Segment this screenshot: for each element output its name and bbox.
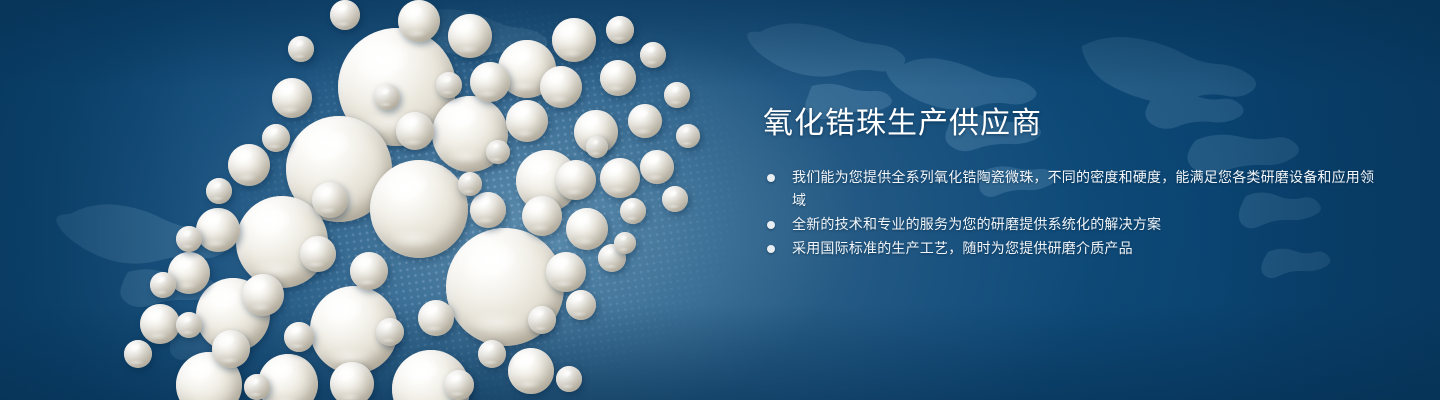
list-item: 我们能为您提供全系列氧化锆陶瓷微珠，不同的密度和硬度，能满足您各类研磨设备和应用… (763, 166, 1383, 212)
list-item-label: 我们能为您提供全系列氧化锆陶瓷微珠，不同的密度和硬度，能满足您各类研磨设备和应用… (792, 169, 1374, 208)
list-item-label: 采用国际标准的生产工艺，随时为您提供研磨介质产品 (792, 240, 1133, 256)
page-title: 氧化锆珠生产供应商 (763, 104, 1383, 144)
list-item: 采用国际标准的生产工艺，随时为您提供研磨介质产品 (763, 237, 1383, 260)
hero-banner: 氧化锆珠生产供应商 我们能为您提供全系列氧化锆陶瓷微珠，不同的密度和硬度，能满足… (0, 0, 1440, 400)
filled-circle-icon (767, 245, 775, 253)
filled-circle-icon (767, 174, 775, 182)
filled-circle-icon (767, 221, 775, 229)
zirconia-bead-cluster-image (0, 0, 760, 400)
list-item-label: 全新的技术和专业的服务为您的研磨提供系统化的解决方案 (792, 216, 1161, 232)
feature-list: 我们能为您提供全系列氧化锆陶瓷微珠，不同的密度和硬度，能满足您各类研磨设备和应用… (763, 166, 1383, 260)
banner-copy: 氧化锆珠生产供应商 我们能为您提供全系列氧化锆陶瓷微珠，不同的密度和硬度，能满足… (763, 104, 1383, 261)
list-item: 全新的技术和专业的服务为您的研磨提供系统化的解决方案 (763, 213, 1383, 236)
